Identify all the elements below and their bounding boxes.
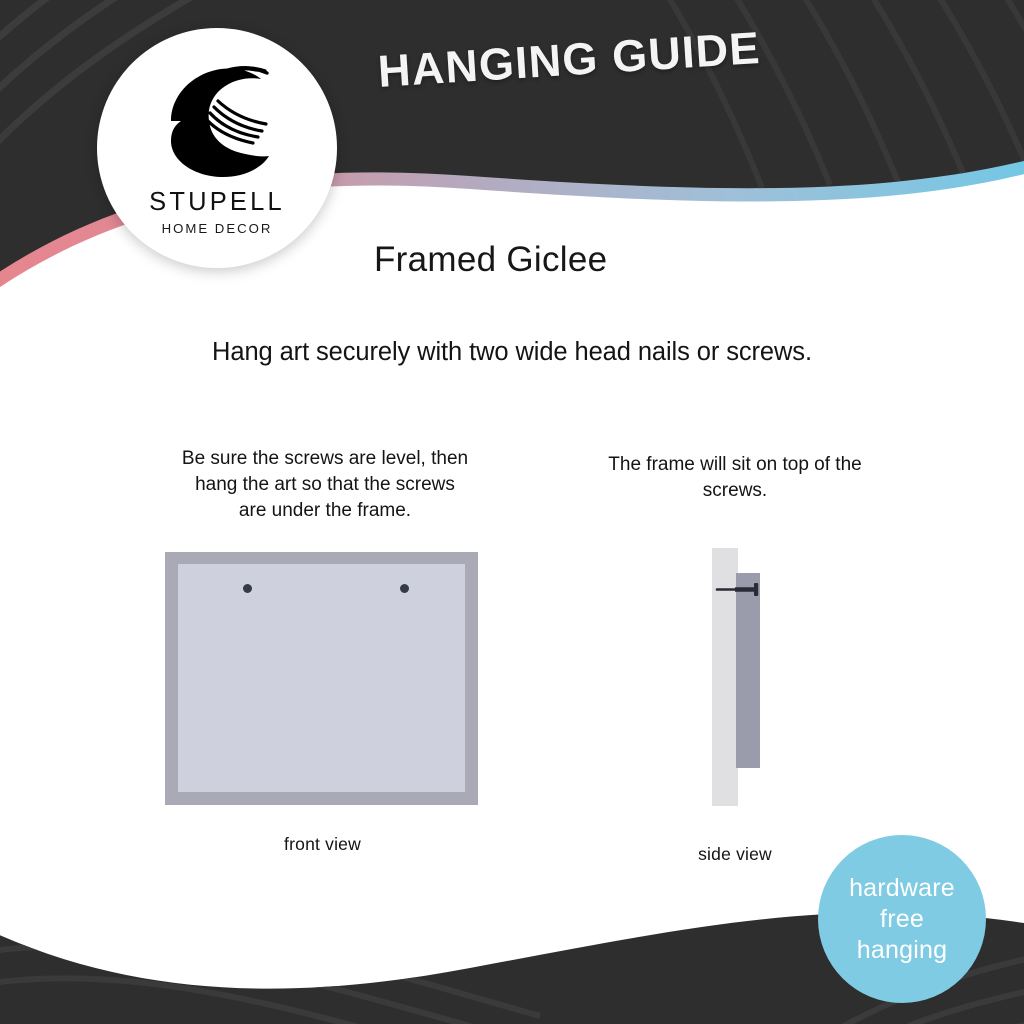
hanging-guide-page: STUPELL HOME DECOR HANGING GUIDE Framed …: [0, 0, 1024, 1024]
screw-dot-left: [243, 584, 252, 593]
logo-badge: STUPELL HOME DECOR: [97, 28, 337, 268]
side-view-frame: [736, 573, 760, 768]
page-title: HANGING GUIDE: [376, 22, 762, 98]
badge-line-1: hardware: [849, 873, 955, 904]
side-view-caption: The frame will sit on top of the screws.: [604, 452, 866, 504]
badge-line-2: free: [880, 904, 924, 935]
front-view-label: front view: [175, 834, 470, 855]
screw-dot-right: [400, 584, 409, 593]
product-type-title: Framed Giclee: [374, 240, 607, 280]
side-view-label: side view: [640, 844, 830, 865]
main-instruction-text: Hang art securely with two wide head nai…: [0, 338, 1024, 367]
front-view-diagram: [165, 552, 478, 805]
badge-line-3: hanging: [857, 935, 947, 966]
logo-wordmark: STUPELL: [149, 188, 285, 217]
hardware-free-hanging-badge: hardware free hanging: [818, 835, 986, 1003]
nail-icon: [715, 580, 765, 598]
front-view-caption: Be sure the screws are level, then hang …: [180, 446, 470, 524]
side-view-diagram: [710, 548, 770, 806]
front-frame-mat: [178, 564, 465, 792]
logo-tagline: HOME DECOR: [162, 221, 273, 236]
stupell-s-swoosh-logo: [157, 57, 277, 182]
